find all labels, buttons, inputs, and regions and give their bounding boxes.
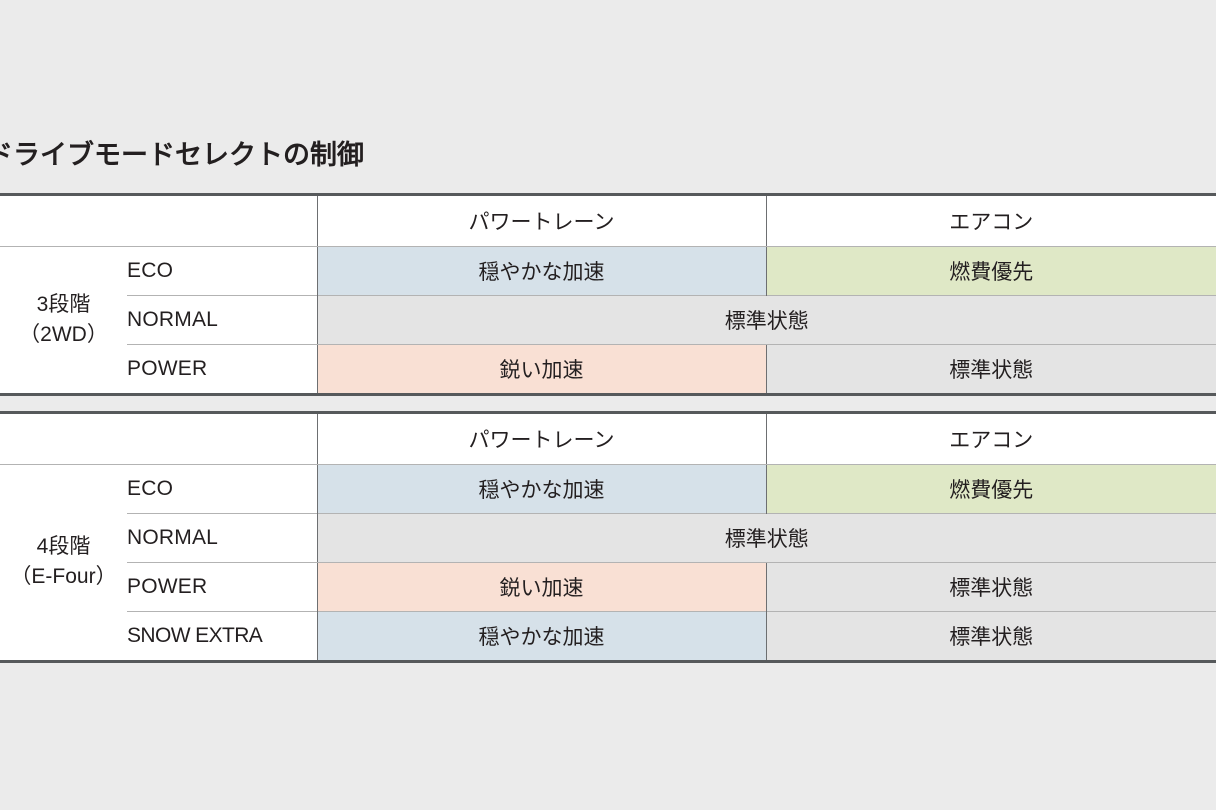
group-label-line-2: （2WD） [0, 320, 127, 350]
cell-eco-air-conditioner: 燃費優先 [766, 464, 1216, 513]
header-blank-cell [0, 414, 317, 464]
mode-name-normal: NORMAL [127, 513, 317, 562]
group-label-4-stage: 4段階 （E-Four） [0, 464, 127, 660]
mode-name-snow-extra: SNOW EXTRA [127, 611, 317, 660]
header-powertrain: パワートレーン [317, 414, 766, 464]
group-label-line-1: 4段階 [0, 532, 127, 562]
table-row: SNOW EXTRA 穏やかな加速 標準状態 [0, 611, 1216, 660]
group-label-3-stage: 3段階 （2WD） [0, 246, 127, 393]
cell-normal-spanned: 標準状態 [317, 513, 1216, 562]
page-title: ドライブモードセレクトの制御 [0, 135, 1216, 175]
table-header-row: パワートレーン エアコン [0, 196, 1216, 246]
cell-eco-powertrain: 穏やかな加速 [317, 246, 766, 295]
spec-table: パワートレーン エアコン 3段階 （2WD） ECO 穏やかな加速 燃費優先 N… [0, 196, 1216, 393]
group-label-line-1: 3段階 [0, 290, 127, 320]
drive-mode-table-4-stage: パワートレーン エアコン 4段階 （E-Four） ECO 穏やかな加速 燃費優… [0, 411, 1216, 663]
table-row: NORMAL 標準状態 [0, 295, 1216, 344]
drive-mode-table-3-stage: パワートレーン エアコン 3段階 （2WD） ECO 穏やかな加速 燃費優先 N… [0, 193, 1216, 396]
cell-power-air-conditioner: 標準状態 [766, 562, 1216, 611]
mode-name-eco: ECO [127, 464, 317, 513]
mode-name-normal: NORMAL [127, 295, 317, 344]
cell-normal-spanned: 標準状態 [317, 295, 1216, 344]
cell-snow-extra-air-conditioner: 標準状態 [766, 611, 1216, 660]
table-row: POWER 鋭い加速 標準状態 [0, 562, 1216, 611]
cell-power-powertrain: 鋭い加速 [317, 344, 766, 393]
spec-table: パワートレーン エアコン 4段階 （E-Four） ECO 穏やかな加速 燃費優… [0, 414, 1216, 660]
table-row: 4段階 （E-Four） ECO 穏やかな加速 燃費優先 [0, 464, 1216, 513]
cell-eco-air-conditioner: 燃費優先 [766, 246, 1216, 295]
table-header-row: パワートレーン エアコン [0, 414, 1216, 464]
header-air-conditioner: エアコン [766, 414, 1216, 464]
cell-power-air-conditioner: 標準状態 [766, 344, 1216, 393]
header-blank-cell [0, 196, 317, 246]
table-row: 3段階 （2WD） ECO 穏やかな加速 燃費優先 [0, 246, 1216, 295]
cell-snow-extra-powertrain: 穏やかな加速 [317, 611, 766, 660]
cell-eco-powertrain: 穏やかな加速 [317, 464, 766, 513]
cell-power-powertrain: 鋭い加速 [317, 562, 766, 611]
header-air-conditioner: エアコン [766, 196, 1216, 246]
table-row: POWER 鋭い加速 標準状態 [0, 344, 1216, 393]
mode-name-power: POWER [127, 562, 317, 611]
group-label-line-2: （E-Four） [0, 562, 127, 592]
header-powertrain: パワートレーン [317, 196, 766, 246]
mode-name-eco: ECO [127, 246, 317, 295]
table-row: NORMAL 標準状態 [0, 513, 1216, 562]
mode-name-power: POWER [127, 344, 317, 393]
